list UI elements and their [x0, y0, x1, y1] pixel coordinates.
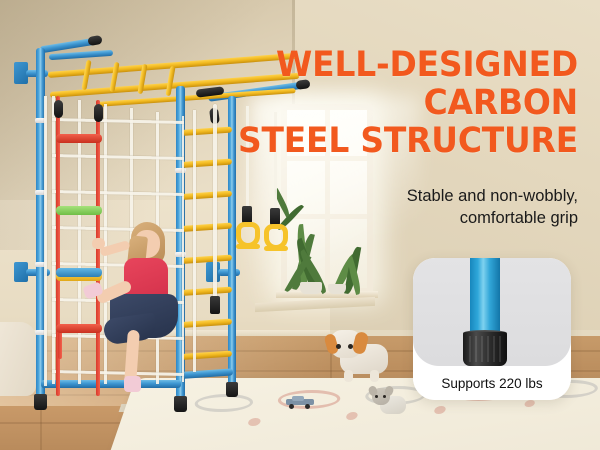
ladder-step-blue: [56, 268, 102, 277]
subtitle-line-1: Stable and non-wobbly,: [238, 185, 578, 207]
post-foot-right: [226, 382, 238, 397]
ladder-buckle-right: [94, 104, 103, 122]
toy-car: [286, 396, 314, 409]
feature-callout-card: Supports 220 lbs: [413, 258, 571, 400]
plush-dog-large: [330, 326, 392, 380]
headline-line-1: WELL-DESIGNED: [183, 46, 578, 84]
callout-photo: [413, 258, 571, 366]
callout-label: Supports 220 lbs: [413, 366, 571, 400]
rope-buckle: [210, 296, 220, 314]
ladder-buckle-left: [54, 100, 63, 118]
ladder-step-red: [56, 134, 102, 143]
product-banner: WELL-DESIGNED CARBON STEEL STRUCTURE Sta…: [0, 0, 600, 450]
rubber-foot-cap: [463, 332, 507, 366]
ladder-step-red-2: [56, 324, 102, 333]
plush-dog-small: [372, 388, 408, 416]
side-rope-left: [44, 96, 47, 386]
headline-line-3: STEEL STRUCTURE: [183, 122, 578, 160]
bottom-rail-front: [41, 380, 181, 388]
ladder-bottom-loop: [58, 333, 62, 359]
subtitle-line-2: comfortable grip: [238, 207, 578, 229]
headline: WELL-DESIGNED CARBON STEEL STRUCTURE: [183, 46, 578, 160]
ladder-bottom-loop-2: [96, 333, 100, 359]
ladder-step-green: [56, 206, 102, 215]
post-clamp-5: [175, 168, 186, 173]
post-clamp-6: [175, 252, 186, 257]
post-foot-left: [34, 394, 47, 410]
pouf-seat: [0, 322, 36, 396]
headline-line-2: CARBON: [183, 84, 578, 122]
subtitle: Stable and non-wobbly, comfortable grip: [238, 185, 578, 229]
post-foot-mid: [174, 396, 187, 412]
